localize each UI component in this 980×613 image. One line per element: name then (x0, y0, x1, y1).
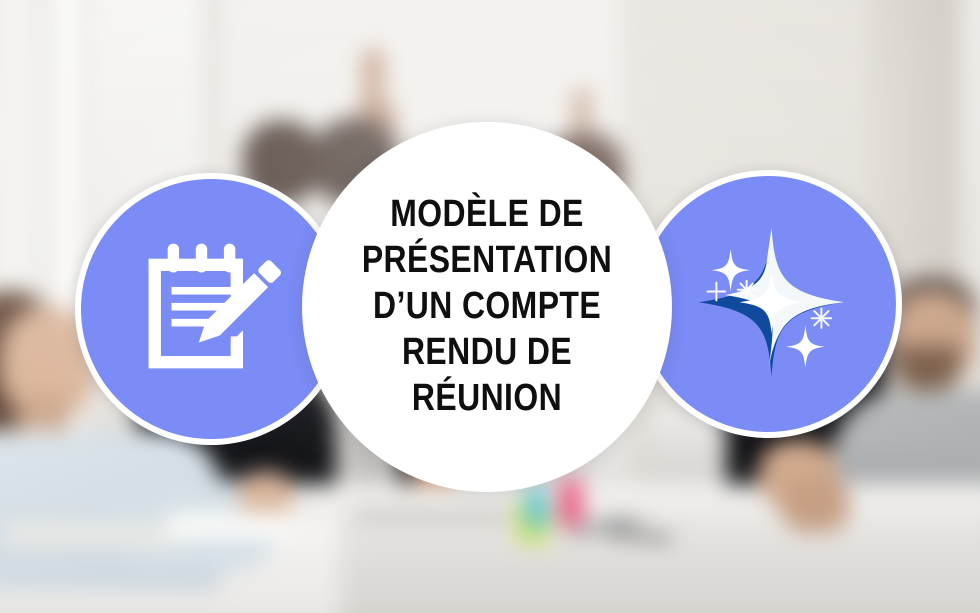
poster-canvas: MODÈLE DE PRÉSENTATION D’UN COMPTE RENDU… (0, 0, 980, 613)
sparkle-star-icon (679, 215, 857, 393)
notepad-pencil-icon (135, 233, 287, 385)
right-icon-badge (634, 170, 902, 438)
page-title: MODÈLE DE PRÉSENTATION D’UN COMPTE RENDU… (335, 192, 639, 422)
title-circle: MODÈLE DE PRÉSENTATION D’UN COMPTE RENDU… (302, 122, 672, 492)
